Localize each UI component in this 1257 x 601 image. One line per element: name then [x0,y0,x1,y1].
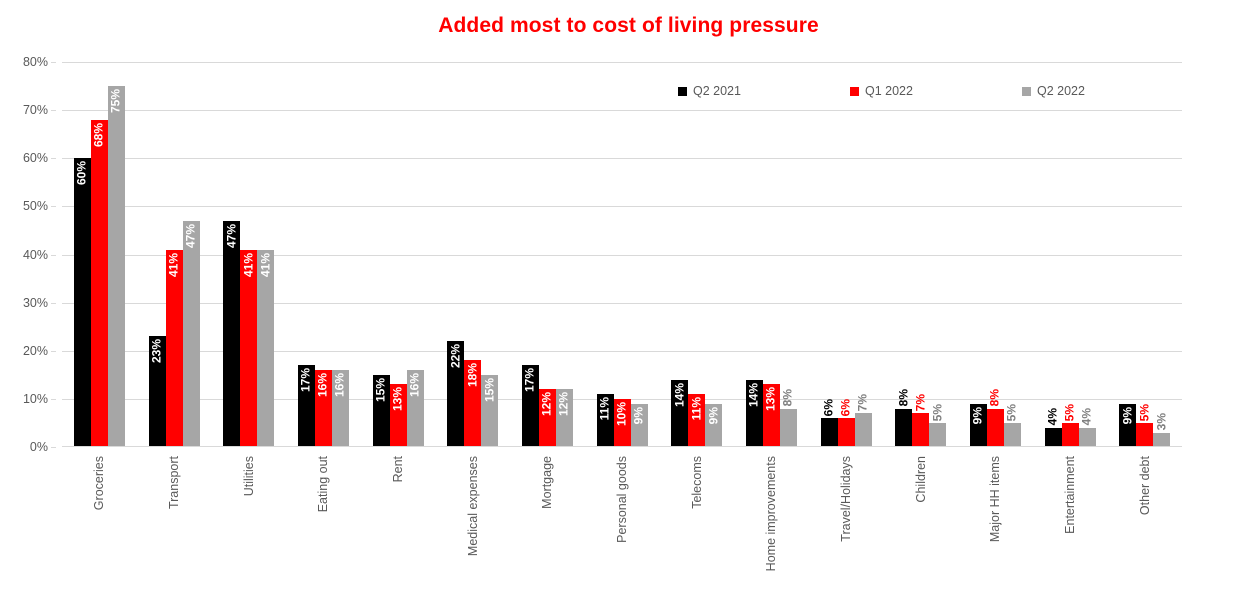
bar-group: 15%13%16% [361,62,436,447]
bar-group: 14%13%8% [734,62,809,447]
bar-value-label: 41% [166,253,183,277]
bar[interactable]: 16% [332,370,349,447]
bar[interactable]: 41% [166,250,183,447]
bar[interactable]: 75% [108,86,125,447]
bar[interactable]: 7% [855,413,872,447]
x-axis-category: Eating out [286,452,361,601]
x-axis-baseline [62,446,1182,447]
bar-group: 9%8%5% [958,62,1033,447]
y-axis-tick-label: 60% [23,151,48,165]
x-axis-category: Mortgage [510,452,585,601]
plot-area: 60%68%75%23%41%47%47%41%41%17%16%16%15%1… [62,62,1182,447]
bar[interactable]: 8% [895,409,912,448]
bar[interactable]: 18% [464,360,481,447]
bar-group: 4%5%4% [1033,62,1108,447]
bar[interactable]: 3% [1153,433,1170,447]
x-axis-category-label: Other debt [1138,456,1152,515]
bar[interactable]: 11% [597,394,614,447]
y-axis-tick-mark [51,399,56,400]
x-axis-category-label: Medical expenses [466,456,480,556]
bar[interactable]: 11% [688,394,705,447]
bar-group: 23%41%47% [137,62,212,447]
bar-value-label: 10% [614,402,631,426]
x-axis-labels: GroceriesTransportUtilitiesEating outRen… [62,452,1182,601]
bar-value-label: 11% [688,397,705,420]
bar[interactable]: 15% [481,375,498,447]
bar-value-label: 8% [780,389,797,406]
bar-value-label: 41% [240,253,257,277]
bar-value-label: 41% [257,253,274,277]
bar-value-label: 16% [407,373,424,397]
x-axis-category: Transport [137,452,212,601]
bar-value-label: 16% [315,373,332,397]
y-axis-tick-mark [51,255,56,256]
bar[interactable]: 4% [1045,428,1062,447]
x-axis-category-label: Utilities [242,456,256,496]
bar-value-label: 7% [912,394,929,411]
bar-value-label: 14% [671,383,688,407]
x-axis-category-label: Children [914,456,928,503]
x-axis-category-label: Entertainment [1063,456,1077,534]
bar-value-label: 47% [183,224,200,248]
x-axis-category: Personal goods [585,452,660,601]
y-axis-tick-label: 0% [30,440,48,454]
y-axis-tick-mark [51,110,56,111]
y-axis-tick-mark [51,351,56,352]
y-axis-tick-label: 10% [23,392,48,406]
bar[interactable]: 16% [315,370,332,447]
bar-group: 17%16%16% [286,62,361,447]
bar[interactable]: 14% [746,380,763,447]
bar[interactable]: 8% [987,409,1004,448]
bar-value-label: 17% [522,368,539,392]
bar[interactable]: 13% [390,384,407,447]
bar-group: 60%68%75% [62,62,137,447]
bar-value-label: 22% [447,344,464,368]
bar-value-label: 16% [332,373,349,397]
x-axis-category-label: Home improvements [764,456,778,571]
bar-value-label: 11% [597,397,614,420]
y-axis-tick-label: 80% [23,55,48,69]
x-axis-category-label: Personal goods [615,456,629,543]
bar-value-label: 12% [556,392,573,416]
bar[interactable]: 9% [631,404,648,447]
bar-value-label: 5% [929,404,946,421]
bar-group: 9%5%3% [1107,62,1182,447]
x-axis-category: Medical expenses [435,452,510,601]
y-axis-tick-label: 20% [23,344,48,358]
chart-title: Added most to cost of living pressure [0,14,1257,38]
bar-value-label: 13% [390,387,407,411]
bar[interactable]: 4% [1079,428,1096,447]
x-axis-category-label: Groceries [92,456,106,510]
y-axis-tick-label: 30% [23,296,48,310]
bar[interactable]: 14% [671,380,688,447]
bar-value-label: 6% [821,399,838,416]
bar[interactable]: 41% [257,250,274,447]
bar-groups: 60%68%75%23%41%47%47%41%41%17%16%16%15%1… [62,62,1182,447]
x-axis-category: Major HH items [958,452,1033,601]
bar-group: 47%41%41% [211,62,286,447]
x-axis-category: Entertainment [1033,452,1108,601]
bar-value-label: 9% [631,407,648,424]
y-axis-tick-mark [51,62,56,63]
bar-value-label: 13% [763,387,780,411]
bar[interactable]: 10% [614,399,631,447]
bar-group: 22%18%15% [435,62,510,447]
bar-value-label: 6% [838,399,855,416]
x-axis-category-label: Major HH items [988,456,1002,542]
bar-value-label: 3% [1153,413,1170,430]
bar-value-label: 9% [705,407,722,424]
bar[interactable]: 9% [1119,404,1136,447]
bar-value-label: 12% [539,392,556,416]
x-axis-category: Travel/Holidays [809,452,884,601]
bar-value-label: 17% [298,368,315,392]
x-axis-category: Telecoms [659,452,734,601]
bar[interactable]: 47% [183,221,200,447]
bar-value-label: 7% [855,394,872,411]
x-axis-category-label: Rent [391,456,405,482]
bar[interactable]: 47% [223,221,240,447]
bar-value-label: 23% [149,339,166,363]
bar[interactable]: 13% [763,384,780,447]
bar-value-label: 68% [91,123,108,147]
bar-value-label: 9% [1119,407,1136,424]
x-axis-category-label: Travel/Holidays [839,456,853,542]
x-axis-category-label: Mortgage [540,456,554,509]
y-axis-tick-label: 50% [23,199,48,213]
bar-value-label: 60% [74,161,91,185]
bar-value-label: 5% [1136,404,1153,421]
x-axis-category-label: Transport [167,456,181,509]
bar[interactable]: 17% [298,365,315,447]
bar-group: 11%10%9% [585,62,660,447]
bar[interactable]: 6% [838,418,855,447]
bar[interactable]: 16% [407,370,424,447]
y-axis-tick-mark [51,206,56,207]
bar[interactable]: 12% [556,389,573,447]
bar-value-label: 5% [1062,404,1079,421]
bar-value-label: 8% [987,389,1004,406]
bar[interactable]: 15% [373,375,390,447]
bar[interactable]: 7% [912,413,929,447]
bar-group: 6%6%7% [809,62,884,447]
y-axis-tick-mark [51,158,56,159]
bar-group: 14%11%9% [659,62,734,447]
x-axis-category-label: Eating out [316,456,330,512]
bar-value-label: 75% [108,89,125,113]
bar-value-label: 47% [223,224,240,248]
bar-value-label: 18% [464,363,481,387]
bar-group: 17%12%12% [510,62,585,447]
bar-value-label: 14% [746,383,763,407]
bar[interactable]: 9% [705,404,722,447]
x-axis-category: Other debt [1107,452,1182,601]
x-axis-category: Rent [361,452,436,601]
x-axis-category: Home improvements [734,452,809,601]
bar[interactable]: 68% [91,120,108,447]
y-axis-tick-label: 40% [23,248,48,262]
bar-value-label: 5% [1004,404,1021,421]
bar[interactable]: 17% [522,365,539,447]
y-axis-tick-label: 70% [23,103,48,117]
bar[interactable]: 60% [74,158,91,447]
x-axis-category: Groceries [62,452,137,601]
bar[interactable]: 8% [780,409,797,448]
bar[interactable]: 5% [1004,423,1021,447]
bar[interactable]: 12% [539,389,556,447]
y-axis: 80%70%60%50%40%30%20%10%0% [0,62,56,447]
bar-chart: Added most to cost of living pressure Q2… [0,0,1257,601]
bar[interactable]: 5% [1062,423,1079,447]
bar-value-label: 4% [1045,408,1062,425]
bar-value-label: 9% [970,407,987,424]
x-axis-category: Children [883,452,958,601]
bar[interactable]: 41% [240,250,257,447]
bar-value-label: 15% [373,378,390,402]
bar[interactable]: 23% [149,336,166,447]
bar-value-label: 8% [895,389,912,406]
bar[interactable]: 22% [447,341,464,447]
bar-group: 8%7%5% [883,62,958,447]
x-axis-category-label: Telecoms [690,456,704,509]
bar[interactable]: 5% [929,423,946,447]
y-axis-tick-mark [51,303,56,304]
bar-value-label: 15% [481,378,498,402]
bar[interactable]: 6% [821,418,838,447]
y-axis-tick-mark [51,447,56,448]
bar-value-label: 4% [1079,408,1096,425]
bar[interactable]: 9% [970,404,987,447]
x-axis-category: Utilities [211,452,286,601]
bar[interactable]: 5% [1136,423,1153,447]
